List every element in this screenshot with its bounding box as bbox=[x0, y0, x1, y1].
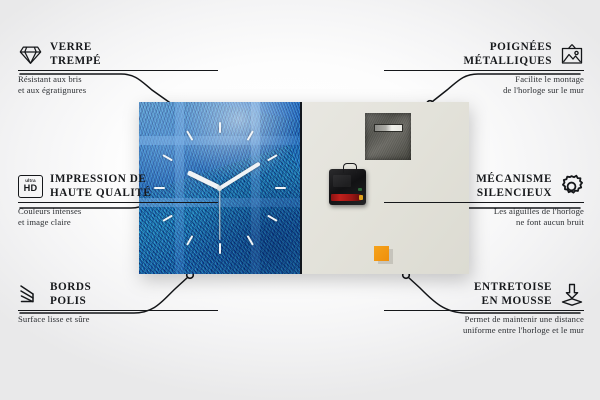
feature-header: VERRE TREMPÉ bbox=[18, 41, 218, 70]
hd-badge: ultra HD bbox=[18, 175, 43, 198]
feature-description: Permet de maintenir une distance uniform… bbox=[384, 311, 584, 336]
feature-title: IMPRESSION DE HAUTE QUALITÉ bbox=[50, 173, 151, 200]
feature-title-line2: EN MOUSSE bbox=[481, 295, 552, 307]
feature-description: Surface lisse et sûre bbox=[18, 311, 218, 325]
feature-title-line1: BORDS bbox=[50, 281, 91, 293]
feature-title-line2: POLIS bbox=[50, 295, 86, 307]
hanger-slot bbox=[374, 124, 403, 132]
clock-tick bbox=[275, 187, 286, 189]
feature-title: VERRE TREMPÉ bbox=[50, 41, 101, 68]
feature-description: Couleurs intenses et image claire bbox=[18, 203, 218, 228]
feature-desc-line1: Facilite le montage bbox=[515, 74, 584, 84]
feature-title-line1: IMPRESSION DE bbox=[50, 173, 146, 185]
clock-tick bbox=[267, 215, 278, 222]
feature-title-line1: VERRE bbox=[50, 41, 92, 53]
feature-title: MÉCANISME SILENCIEUX bbox=[476, 173, 552, 200]
hd-badge-large-text: HD bbox=[24, 184, 38, 193]
feature-description: Résistant aux bris et aux égratignures bbox=[18, 71, 218, 96]
clock-tick bbox=[186, 130, 193, 141]
feature-desc-line1: Les aiguilles de l'horloge bbox=[494, 206, 584, 216]
feature-title-line2: SILENCIEUX bbox=[477, 187, 552, 199]
feature-desc-line2: uniforme entre l'horloge et le mur bbox=[463, 325, 584, 335]
feature-title-line2: MÉTALLIQUES bbox=[463, 55, 552, 67]
clock-tick bbox=[219, 122, 221, 133]
clock-tick bbox=[162, 154, 173, 161]
clock-tick bbox=[246, 130, 253, 141]
feature-title-line2: TREMPÉ bbox=[50, 55, 101, 67]
feature-title: ENTRETOISE EN MOUSSE bbox=[474, 281, 552, 308]
feature-polished-edges: BORDS POLIS Surface lisse et sûre bbox=[18, 281, 218, 325]
polished-edges-icon bbox=[18, 282, 43, 307]
mechanism-detail bbox=[333, 175, 351, 187]
feature-metal-handles: POIGNÉES MÉTALLIQUES Facilite le montage… bbox=[384, 41, 584, 96]
picture-frame-icon bbox=[559, 42, 584, 67]
feature-header: ultra HD IMPRESSION DE HAUTE QUALITÉ bbox=[18, 173, 218, 202]
feature-header: MÉCANISME SILENCIEUX bbox=[384, 173, 584, 202]
gear-icon bbox=[559, 174, 584, 199]
feature-description: Facilite le montage de l'horloge sur le … bbox=[384, 71, 584, 96]
feature-title-line1: MÉCANISME bbox=[476, 173, 552, 185]
feature-description: Les aiguilles de l'horloge ne font aucun… bbox=[384, 203, 584, 228]
feature-title: POIGNÉES MÉTALLIQUES bbox=[463, 41, 552, 68]
clock-tick bbox=[246, 235, 253, 246]
product-infographic: VERRE TREMPÉ Résistant aux bris et aux é… bbox=[0, 0, 600, 400]
feature-desc-line2: et image claire bbox=[18, 217, 71, 227]
ultra-hd-icon: ultra HD bbox=[18, 174, 43, 199]
feature-silent-mechanism: MÉCANISME SILENCIEUX Les aiguilles de l'… bbox=[384, 173, 584, 228]
clock-tick bbox=[267, 154, 278, 161]
clock-mechanism-box bbox=[329, 169, 366, 205]
mechanism-indicator bbox=[358, 188, 362, 191]
clock-tick bbox=[186, 235, 193, 246]
feature-print-quality: ultra HD IMPRESSION DE HAUTE QUALITÉ Cou… bbox=[18, 173, 218, 228]
feature-title-line2: HAUTE QUALITÉ bbox=[50, 187, 151, 199]
arrow-down-stack-icon bbox=[559, 282, 584, 307]
feature-tempered-glass: VERRE TREMPÉ Résistant aux bris et aux é… bbox=[18, 41, 218, 96]
feature-desc-line1: Surface lisse et sûre bbox=[18, 314, 90, 324]
feature-desc-line2: ne font aucun bruit bbox=[516, 217, 584, 227]
clock-tick bbox=[219, 243, 221, 254]
feature-header: POIGNÉES MÉTALLIQUES bbox=[384, 41, 584, 70]
feature-desc-line2: et aux égratignures bbox=[18, 85, 86, 95]
foam-spacer-square bbox=[374, 246, 389, 261]
feature-desc-line2: de l'horloge sur le mur bbox=[503, 85, 584, 95]
feature-desc-line1: Résistant aux bris bbox=[18, 74, 82, 84]
feature-title-line1: ENTRETOISE bbox=[474, 281, 552, 293]
feature-header: ENTRETOISE EN MOUSSE bbox=[384, 281, 584, 310]
feature-title: BORDS POLIS bbox=[50, 281, 91, 308]
feature-desc-line1: Permet de maintenir une distance bbox=[465, 314, 584, 324]
metal-hanger-plate bbox=[365, 113, 411, 160]
mechanism-hanger-loop bbox=[343, 163, 357, 173]
clock-hand-second bbox=[219, 188, 220, 240]
feature-title-line1: POIGNÉES bbox=[490, 41, 552, 53]
clock-hand-minute bbox=[219, 162, 261, 190]
feature-foam-spacer: ENTRETOISE EN MOUSSE Permet de maintenir… bbox=[384, 281, 584, 336]
feature-desc-line1: Couleurs intenses bbox=[18, 206, 81, 216]
feature-header: BORDS POLIS bbox=[18, 281, 218, 310]
diamond-icon bbox=[18, 42, 43, 67]
battery bbox=[331, 194, 361, 201]
